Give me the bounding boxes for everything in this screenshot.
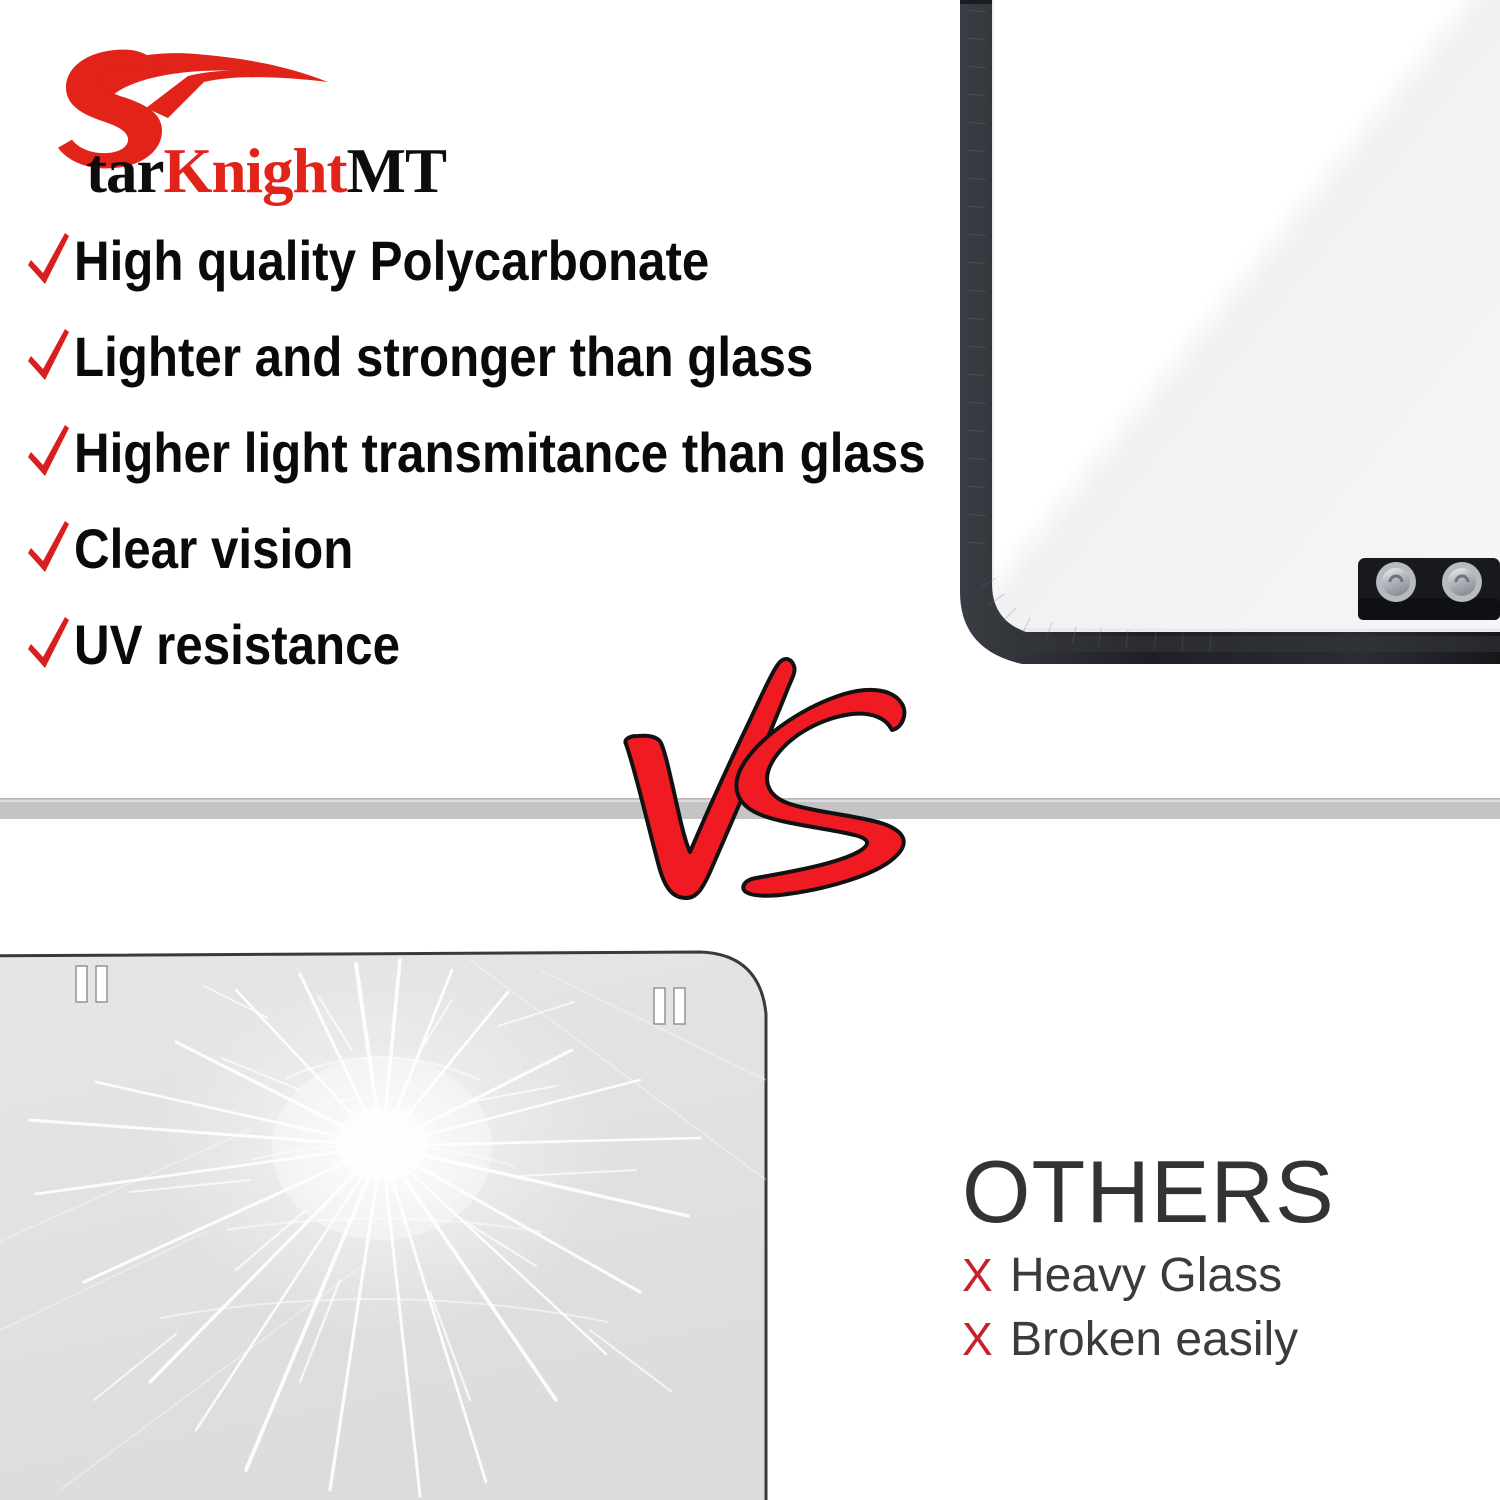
red-x-icon: X bbox=[962, 1252, 1010, 1298]
mounting-clamp bbox=[1358, 558, 1500, 620]
brand-part-knight: Knight bbox=[163, 136, 346, 206]
others-title: OTHERS bbox=[962, 1148, 1432, 1236]
red-check-icon bbox=[22, 325, 74, 387]
polycarbonate-windshield-photo bbox=[930, 0, 1500, 700]
feature-label: Higher light transmitance than glass bbox=[74, 420, 926, 485]
feature-label: High quality Polycarbonate bbox=[74, 228, 709, 293]
feature-label: Clear vision bbox=[74, 516, 353, 581]
con-label: Heavy Glass bbox=[1010, 1252, 1282, 1300]
feature-item: Lighter and stronger than glass bbox=[22, 308, 962, 404]
product-comparison-infographic: tarKnightMT High quality Polycarbonate L… bbox=[0, 0, 1500, 1500]
brand-logo: tarKnightMT bbox=[28, 42, 628, 182]
others-block: OTHERS X Heavy Glass X Broken easily bbox=[962, 1148, 1432, 1380]
brand-part-tar: tar bbox=[86, 136, 163, 206]
con-item: X Broken easily bbox=[962, 1316, 1432, 1380]
feature-label: UV resistance bbox=[74, 612, 400, 677]
red-check-icon bbox=[22, 421, 74, 483]
brand-wordmark: tarKnightMT bbox=[86, 140, 446, 203]
red-check-icon bbox=[22, 517, 74, 579]
feature-item: Clear vision bbox=[22, 500, 962, 596]
red-check-icon bbox=[22, 613, 74, 675]
red-check-icon bbox=[22, 229, 74, 291]
con-label: Broken easily bbox=[1010, 1316, 1298, 1364]
red-x-icon: X bbox=[962, 1316, 1010, 1362]
feature-item: Higher light transmitance than glass bbox=[22, 404, 962, 500]
vs-brush-icon bbox=[600, 648, 950, 923]
feature-label: Lighter and stronger than glass bbox=[74, 324, 813, 389]
feature-item: High quality Polycarbonate bbox=[22, 212, 962, 308]
cracked-glass-panel-photo bbox=[0, 930, 790, 1500]
brand-part-mt: MT bbox=[347, 136, 446, 206]
feature-list: High quality Polycarbonate Lighter and s… bbox=[22, 212, 962, 692]
con-item: X Heavy Glass bbox=[962, 1252, 1432, 1316]
